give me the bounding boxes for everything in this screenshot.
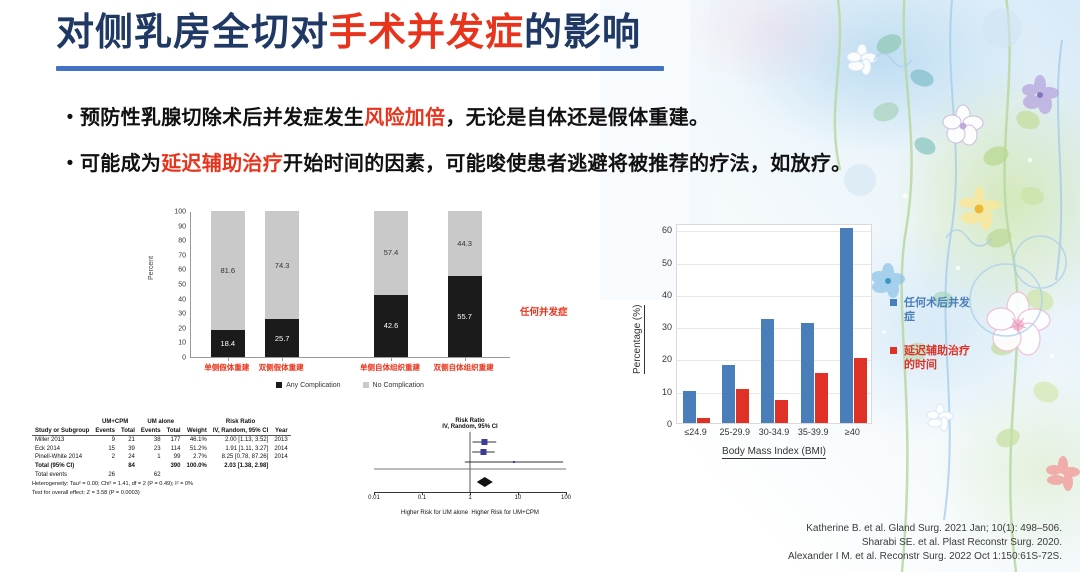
bmi-bar-complications [722,365,735,423]
stacked-chart-legend: Any ComplicationNo Complication [190,382,510,389]
bmi-bar-delay [697,418,710,423]
forest-plot-canvas [374,432,566,492]
legend-swatch-icon [363,382,369,388]
col-study: Study or Subgroup [32,427,92,436]
stacked-bar-group: 25.774.3 [265,212,299,357]
legend-item-0: Any Complication [276,382,340,389]
bullet-text-1: 预防性乳腺切除术后并发症发生风险加倍，无论是自体还是假体重建。 [80,104,709,132]
bmi-chart-x-axis-title: Body Mass Index (BMI) [676,446,872,457]
segment-no-complication: 81.6 [211,211,245,330]
bmi-y-tick-50: 50 [646,258,672,268]
forest-cell: 21 [118,436,138,445]
bmi-legend-swatch-icon [890,347,897,354]
forest-axis-tick-label: 1 [468,495,471,501]
forest-table-row: Miller 20139213817746.1%2.00 [1.13, 3.52… [32,436,291,445]
stacked-bar-group: 55.744.3 [448,212,482,357]
bmi-bar-group [795,225,834,423]
col-events-2: Events [138,427,164,436]
citation-block: Katherine B. et al. Gland Surg. 2021 Jan… [788,522,1062,564]
col-events-1: Events [92,427,118,436]
citation-3: Alexander I M. et al. Reconstr Surg. 202… [788,550,1062,564]
bullet-2-seg-2: 开始时间的因素，可能唆使患者逃避将被推荐的疗法，如放疗。 [283,153,851,175]
forest-cell: Eck 2014 [32,445,92,454]
y-tick-70: 70 [158,252,186,259]
forest-cell: 62 [138,471,164,480]
stacked-chart-annotation: 任何并发症 [520,304,568,318]
bmi-chart-legend: 任何术后并发症延迟辅助治疗的时间 [890,296,1000,392]
x-tick-mark [228,357,229,361]
bmi-y-tick-10: 10 [646,387,672,397]
stacked-bar: 18.481.6 [211,211,245,357]
bmi-bar-delay [775,400,788,423]
segment-any-complication: 18.4 [211,330,245,357]
forest-cell [118,471,138,480]
forest-cell: 26 [92,471,118,480]
forest-summary-diamond [477,477,493,487]
forest-cell: Miller 2013 [32,436,92,445]
segment-any-complication: 55.7 [448,276,482,357]
bullet-list: • 预防性乳腺切除术后并发症发生风险加倍，无论是自体还是假体重建。 • 可能成为… [60,104,1020,196]
axis-label-left: Higher Risk for UM alone [401,510,468,516]
bmi-legend-label: 延迟辅助治疗的时间 [904,344,976,372]
forest-cell [271,462,290,471]
y-tick-50: 50 [158,282,186,289]
forest-cell [271,471,290,480]
title-highlight: 手术并发症 [329,12,524,54]
bmi-legend-item-0: 任何术后并发症 [890,296,1000,324]
citation-2: Sharabi SE. et al. Plast Reconstr Surg. … [788,536,1062,550]
stacked-chart-y-ticks: 0102030405060708090100 [158,212,186,358]
col-year: Year [271,427,290,436]
segment-any-complication: 42.6 [374,295,408,357]
x-label-2: 单侧自体组织重建 [360,362,420,373]
forest-axis-tick-label: 100 [561,495,571,501]
col-weight: Weight [183,427,209,436]
bmi-legend-label: 任何术后并发症 [904,296,976,324]
bmi-y-tick-40: 40 [646,290,672,300]
forest-cell: Total events [32,471,92,480]
bmi-x-label-1: 25-29.9 [720,427,751,437]
bullet-text-2: 可能成为延迟辅助治疗开始时间的因素，可能唆使患者逃避将被推荐的疗法，如放疗。 [80,150,851,178]
stacked-bar-group: 18.481.6 [211,212,245,357]
y-tick-90: 90 [158,223,186,230]
bullet-2-highlight: 延迟辅助治疗 [161,153,283,175]
legend-label: Any Complication [286,382,340,389]
bmi-chart-y-ticks: 0102030405060 [646,224,672,424]
forest-cell: 390 [164,462,184,471]
y-tick-80: 80 [158,238,186,245]
group-header-um-alone: UM alone [138,418,184,427]
forest-table-row: Eck 201415392311451.2%1.91 [1.11, 3.27]2… [32,445,291,454]
col-total-2: Total [164,427,184,436]
bullet-1-seg-1: 预防性乳腺切除术后并发症发生 [80,107,364,129]
forest-cell [210,471,271,480]
forest-graph-subheading: IV, Random, 95% CI [368,424,572,430]
forest-group-header-row: UM+CPM UM alone Risk Ratio [32,418,291,427]
forest-cell: 100.0% [183,462,209,471]
forest-cell [92,462,118,471]
forest-plot-rows: Miller 20139213817746.1%2.00 [1.13, 3.52… [32,436,291,479]
forest-plot-direction-labels: Higher Risk for UM alone Higher Risk for… [368,510,572,516]
bmi-bar-group [677,225,716,423]
bullet-item-2: • 可能成为延迟辅助治疗开始时间的因素，可能唆使患者逃避将被推荐的疗法，如放疗。 [60,150,1020,178]
citation-1: Katherine B. et al. Gland Surg. 2021 Jan… [788,522,1062,536]
forest-cell: 39 [118,445,138,454]
bmi-chart-y-axis-label: Percentage (%) [632,305,645,374]
col-ci: IV, Random, 95% CI [210,427,271,436]
y-tick-30: 30 [158,311,186,318]
bmi-x-label-3: 35-39.9 [798,427,829,437]
forest-cell: 2014 [271,453,290,462]
title-part-1: 对侧乳房全切对 [56,12,329,54]
bmi-bar-complications [840,228,853,423]
bmi-bar-complications [683,391,696,423]
bmi-x-label-4: ≥40 [845,427,860,437]
x-label-1: 双侧假体重建 [259,362,304,373]
bmi-legend-item-1: 延迟辅助治疗的时间 [890,344,1000,372]
bmi-bar-delay [736,389,749,423]
forest-point-estimate [481,439,487,445]
forest-cell: Pinell-White 2014 [32,453,92,462]
forest-axis-tick-label: 0.1 [418,495,426,501]
stacked-chart-x-labels: 单侧假体重建双侧假体重建单侧自体组织重建双侧自体组织重建 [190,362,510,378]
bullet-2-seg-1: 可能成为 [80,153,161,175]
forest-point-estimate [480,449,486,455]
forest-cell: 84 [118,462,138,471]
x-tick-mark [282,357,283,361]
x-label-0: 单侧假体重建 [204,362,249,373]
forest-cell [164,471,184,480]
title-underline-rule [56,66,664,71]
forest-axis-tick-label: 10 [515,495,522,501]
bullet-1-seg-2: ，无论是自体还是假体重建。 [445,107,709,129]
bmi-chart-x-labels: ≤24.925-29.930-34.935-39.9≥40 [676,427,872,441]
forest-cell: 114 [164,445,184,454]
bmi-x-label-0: ≤24.9 [684,427,706,437]
bmi-y-tick-60: 60 [646,225,672,235]
segment-any-complication: 25.7 [265,319,299,357]
x-tick-mark [391,357,392,361]
title-part-2: 的影响 [524,12,641,54]
forest-cell: 51.2% [183,445,209,454]
forest-cell: 177 [164,436,184,445]
forest-cell: 15 [92,445,118,454]
bullet-marker-icon: • [60,150,80,178]
forest-cell: 2.03 [1.38, 2.98] [210,462,271,471]
bmi-bar-group [755,225,794,423]
stacked-complication-chart: Percent 0102030405060708090100 18.481.62… [150,206,550,396]
segment-no-complication: 57.4 [374,211,408,295]
forest-cell: 2.00 [1.13, 3.52] [210,436,271,445]
forest-cell: 1.91 [1.11, 3.27] [210,445,271,454]
group-header-risk-ratio: Risk Ratio [210,418,271,427]
bmi-complication-chart: Percentage (%) 0102030405060 ≤24.925-29.… [628,224,1058,484]
x-label-3: 双侧自体组织重建 [434,362,494,373]
bmi-y-tick-30: 30 [646,322,672,332]
forest-point-estimate [513,461,515,463]
forest-plot-table: UM+CPM UM alone Risk Ratio Study or Subg… [32,418,291,479]
bmi-bar-delay [815,373,828,423]
forest-cell: 38 [138,436,164,445]
forest-table-row: Total events2662 [32,471,291,480]
forest-cell: Total (95% CI) [32,462,92,471]
forest-cell: 24 [118,453,138,462]
bullet-1-highlight: 风险加倍 [364,107,445,129]
y-tick-100: 100 [158,209,186,216]
bmi-y-tick-0: 0 [646,419,672,429]
forest-plot-axis: 0.010.1110100 [374,492,566,500]
group-header-um-cpm: UM+CPM [92,418,138,427]
forest-plot-graph-title: Risk Ratio IV, Random, 95% CI [368,418,572,430]
y-tick-10: 10 [158,340,186,347]
forest-cell: 8.25 [0.78, 87.26] [210,453,271,462]
stacked-bar: 42.657.4 [374,211,408,357]
page-title: 对侧乳房全切对手术并发症的影响 [56,12,664,56]
forest-cell: 23 [138,445,164,454]
bmi-chart-plot-area [676,224,872,424]
stacked-chart-plot-area: 18.481.625.774.342.657.455.744.3 [190,212,510,358]
y-tick-60: 60 [158,267,186,274]
legend-item-1: No Complication [363,382,424,389]
forest-cell [138,462,164,471]
y-tick-40: 40 [158,296,186,303]
title-block: 对侧乳房全切对手术并发症的影响 [56,12,664,71]
y-tick-0: 0 [158,355,186,362]
bullet-marker-icon: • [60,104,80,132]
forest-cell: 9 [92,436,118,445]
forest-plot: UM+CPM UM alone Risk Ratio Study or Subg… [32,418,572,522]
stacked-bar: 55.744.3 [448,211,482,357]
forest-cell [183,471,209,480]
forest-cell: 46.1% [183,436,209,445]
forest-cell: 2013 [271,436,290,445]
axis-label-right: Higher Risk for UM+CPM [471,510,539,516]
forest-cell: 2 [92,453,118,462]
forest-column-header-row: Study or Subgroup Events Total Events To… [32,427,291,436]
bmi-legend-swatch-icon [890,299,897,306]
bmi-y-tick-20: 20 [646,354,672,364]
stacked-bar: 25.774.3 [265,211,299,357]
x-tick-mark [465,357,466,361]
bmi-bar-delay [854,358,867,423]
forest-axis-tick-label: 0.01 [368,495,380,501]
forest-table-row: Pinell-White 20142241992.7%8.25 [0.78, 8… [32,453,291,462]
bmi-bar-complications [761,319,774,423]
bmi-x-label-2: 30-34.9 [759,427,790,437]
legend-label: No Complication [373,382,424,389]
forest-plot-graph: Risk Ratio IV, Random, 95% CI 0.010.1110… [368,418,572,522]
forest-cell: 99 [164,453,184,462]
bmi-bar-complications [801,323,814,423]
forest-table-row: Total (95% CI)84390100.0%2.03 [1.38, 2.9… [32,462,291,471]
forest-cell: 1 [138,453,164,462]
segment-no-complication: 74.3 [265,211,299,319]
legend-swatch-icon [276,382,282,388]
y-tick-20: 20 [158,325,186,332]
stacked-chart-y-axis-label: Percent [148,256,155,280]
stacked-bar-group: 42.657.4 [374,212,408,357]
bmi-bar-group [716,225,755,423]
segment-no-complication: 44.3 [448,211,482,276]
bullet-item-1: • 预防性乳腺切除术后并发症发生风险加倍，无论是自体还是假体重建。 [60,104,1020,132]
forest-cell: 2.7% [183,453,209,462]
bmi-bar-group [834,225,873,423]
col-total-1: Total [118,427,138,436]
forest-cell: 2014 [271,445,290,454]
